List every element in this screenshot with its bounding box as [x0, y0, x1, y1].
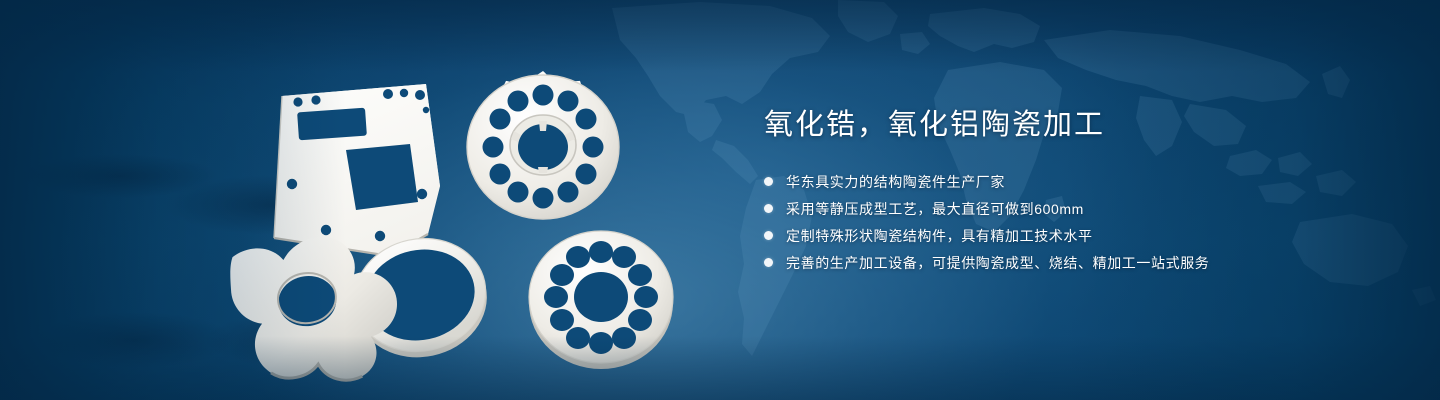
feature-item: 采用等静压成型工艺，最大直径可做到600mm	[764, 197, 1384, 220]
product-photo-cluster	[0, 0, 720, 400]
bullet-dot-icon	[764, 177, 773, 186]
feature-text: 定制特殊形状陶瓷结构件，具有精加工技术水平	[786, 226, 1093, 246]
feature-item: 定制特殊形状陶瓷结构件，具有精加工技术水平	[764, 224, 1384, 247]
banner-headline: 氧化锆，氧化铝陶瓷加工	[764, 108, 1384, 142]
bullet-dot-icon	[764, 204, 773, 213]
bullet-dot-icon	[764, 258, 773, 267]
feature-text: 华东具实力的结构陶瓷件生产厂家	[786, 172, 1005, 192]
hero-banner: 氧化锆，氧化铝陶瓷加工 华东具实力的结构陶瓷件生产厂家 采用等静压成型工艺，最大…	[0, 0, 1440, 400]
bullet-dot-icon	[764, 231, 773, 240]
feature-text: 完善的生产加工设备，可提供陶瓷成型、烧结、精加工一站式服务	[786, 253, 1209, 273]
feature-item: 完善的生产加工设备，可提供陶瓷成型、烧结、精加工一站式服务	[764, 251, 1384, 274]
feature-text: 采用等静压成型工艺，最大直径可做到600mm	[786, 199, 1084, 219]
ceramic-perforated-disc-shape	[529, 231, 673, 369]
banner-copy: 氧化锆，氧化铝陶瓷加工 华东具实力的结构陶瓷件生产厂家 采用等静压成型工艺，最大…	[764, 108, 1384, 278]
feature-list: 华东具实力的结构陶瓷件生产厂家 采用等静压成型工艺，最大直径可做到600mm 定…	[764, 170, 1384, 274]
feature-item: 华东具实力的结构陶瓷件生产厂家	[764, 170, 1384, 193]
